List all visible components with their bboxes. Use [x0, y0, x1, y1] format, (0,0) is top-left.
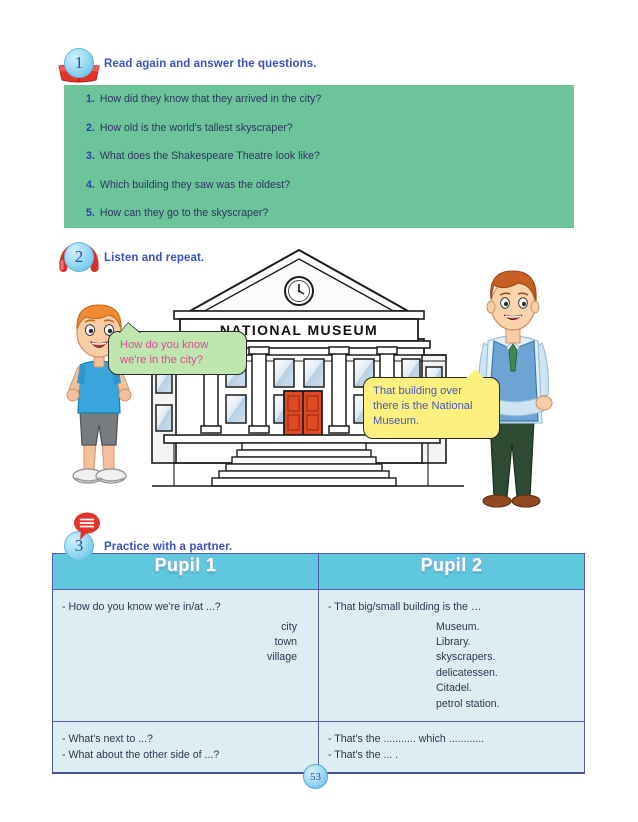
bubble-boy-line-2: we're in the city? [120, 353, 246, 368]
bubble-boy-line-1: How do you know [120, 338, 246, 353]
cell-line: - What's next to ...? [62, 732, 309, 748]
question-item: 1. How did they know that they arrived i… [64, 85, 574, 114]
question-item: 4. Which building they saw was the oldes… [64, 171, 574, 200]
table-row: - How do you know we're in/at ...? city … [53, 590, 585, 722]
question-text: How did they know that they arrived in t… [100, 85, 321, 114]
table-head: Pupil 1 Pupil 2 [53, 554, 585, 590]
cell-pupil1-row1: - How do you know we're in/at ...? city … [53, 590, 319, 722]
header-label: Pupil 1 [155, 555, 217, 575]
question-number: 4. [86, 171, 95, 200]
section-2-badge: 2 [56, 236, 102, 280]
question-text: Which building they saw was the oldest? [100, 171, 290, 200]
speech-bubble-icon [72, 511, 102, 541]
question-item: 3. What does the Shakespeare Theatre loo… [64, 142, 574, 171]
question-item: 2. How old is the world's tallest skyscr… [64, 114, 574, 143]
question-number: 5. [86, 199, 95, 228]
cell-pupil2-row1: - That big/small building is the … Museu… [319, 590, 585, 722]
bubble-man-line-2: there is the National [373, 399, 499, 414]
section-1-title: Read again and answer the questions. [104, 58, 317, 70]
table-body: - How do you know we're in/at ...? city … [53, 590, 585, 773]
illustration-scene: NATIONAL MUSEUM [56, 243, 586, 525]
cell-line: - What about the other side of ...? [62, 748, 309, 764]
question-text: How old is the world's tallest skyscrape… [100, 114, 293, 143]
cell-line: - That's the ........... which .........… [328, 732, 575, 748]
speech-bubble-man: That building over there is the National… [363, 377, 500, 439]
cell-prompt: - How do you know we're in/at ...? [62, 600, 309, 616]
practice-table: Pupil 1 Pupil 2 - How do you know we're … [52, 553, 585, 773]
option-item: town [62, 635, 297, 650]
section-1-number: 1 [64, 48, 94, 78]
option-item: city [62, 620, 297, 635]
question-number: 2. [86, 114, 95, 143]
bubble-man-text: That building over there is the National… [364, 378, 499, 429]
bubble-man-line-3: Museum. [373, 414, 499, 429]
option-item: Citadel. [436, 681, 575, 696]
cell-pupil2-row2: - That's the ........... which .........… [319, 722, 585, 773]
section-3-title: Practice with a partner. [104, 541, 232, 553]
cell-options-left: city town village [62, 620, 309, 666]
page-footer: 53 [0, 772, 638, 812]
option-item: delicatessen. [436, 666, 575, 681]
question-number: 1. [86, 85, 95, 114]
page-number: 53 [303, 764, 328, 789]
bubble-man-line-1: That building over [373, 384, 499, 399]
option-item: Museum. [436, 620, 575, 635]
section-1-badge: 1 [56, 42, 102, 86]
table-header-pupil-1: Pupil 1 [53, 554, 319, 590]
option-item: Library. [436, 635, 575, 650]
cell-options-right: Museum. Library. skyscrapers. delicatess… [328, 620, 575, 712]
section-1-header: 1 Read again and answer the questions. [56, 42, 317, 86]
option-item: petrol station. [436, 697, 575, 712]
bubble-tail [464, 369, 485, 380]
question-text: What does the Shakespeare Theatre look l… [100, 142, 320, 171]
question-text: How can they go to the skyscraper? [100, 199, 268, 228]
cell-line: - That's the ... . [328, 748, 575, 764]
cell-prompt: - That big/small building is the … [328, 600, 575, 616]
bubble-boy-text: How do you know we're in the city? [109, 332, 246, 368]
question-item: 5. How can they go to the skyscraper? [64, 199, 574, 228]
section-2-number: 2 [64, 242, 94, 272]
table-header-row: Pupil 1 Pupil 2 [53, 554, 585, 590]
bubble-tail [119, 323, 141, 334]
scene-artwork: NATIONAL MUSEUM [56, 243, 586, 525]
option-item: village [62, 650, 297, 665]
speech-bubble-boy: How do you know we're in the city? [108, 331, 247, 375]
table-header-pupil-2: Pupil 2 [319, 554, 585, 590]
header-label: Pupil 2 [421, 555, 483, 575]
cell-pupil1-row2: - What's next to ...? - What about the o… [53, 722, 319, 773]
question-number: 3. [86, 142, 95, 171]
questions-panel: 1. How did they know that they arrived i… [64, 85, 574, 228]
option-item: skyscrapers. [436, 650, 575, 665]
